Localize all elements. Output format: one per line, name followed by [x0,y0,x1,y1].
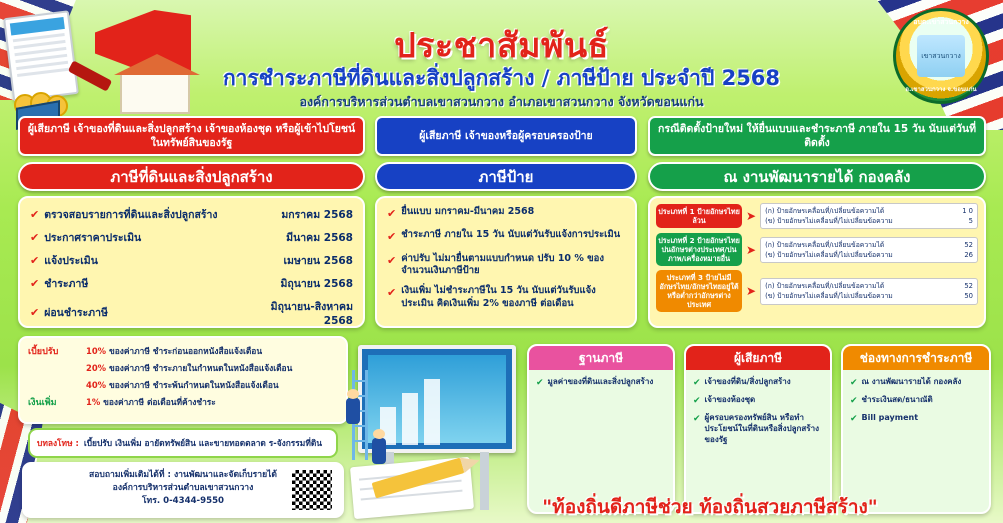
rate-value: 1 0 [962,206,973,216]
sign-rule-text: ยื่นแบบ มกราคม-มีนาคม 2568 [401,206,625,218]
poster-root: อบต.เขาสวนกวาง เขาสวนกวาง อ.เขาสวนกวาง จ… [0,0,1003,523]
penalty-desc: ของค่าภาษี ชำระภายในกำหนดในหนังสือแจ้งเต… [109,363,292,373]
schedule-row: ✔ ผ่อนชำระภาษี มิถุนายน-สิงหาคม 2568 [30,298,353,327]
check-icon: ✔ [693,377,701,389]
punishment-bar: บทลงโทษ : เบี้ยปรับ เงินเพิ่ม อายัดทรัพย… [28,428,338,458]
taxpayer-sign-banner: ผู้เสียภาษี เจ้าของหรือผู้ครอบครองป้าย [375,116,637,156]
card-body: ✔ เจ้าของที่ดิน/สิ่งปลูกสร้าง ✔ เจ้าของห… [686,370,830,459]
penalty-fine-text: 20% ของค่าภาษี ชำระภายในกำหนดในหนังสือแจ… [86,361,338,375]
schedule-date: เมษายน 2568 [243,252,353,269]
check-icon: ✔ [387,207,396,221]
card-item: ✔ ณ งานพัฒนารายได้ กองคลัง [850,377,982,389]
card-body: ✔ ณ งานพัฒนารายได้ กองคลัง ✔ ชำระเงินสด/… [843,370,989,438]
check-icon: ✔ [850,413,858,425]
sign-rule-text: ชำระภาษี ภายใน 15 วัน นับแต่วันรับแจ้งกา… [401,229,625,241]
schedule-label: ประกาศราคาประเมิน [44,229,243,246]
card-item-text: Bill payment [862,413,918,425]
card-item: ✔ ผู้ครอบครองทรัพย์สิน หรือทำประโยชน์ในท… [693,413,823,445]
schedule-label: แจ้งประเมิน [44,252,243,269]
schedule-date: มกราคม 2568 [243,206,353,223]
check-icon: ✔ [387,254,396,268]
card-item-text: ณ งานพัฒนารายได้ กองคลัง [862,377,962,389]
sign-rule-row: ✔ ค่าปรับ ไม่มายื่นตามแบบกำหนด ปรับ 10 %… [387,253,625,278]
sign-rule-text: เงินเพิ่ม ไม่ชำระภาษีใน 15 วัน นับแต่วัน… [401,285,625,310]
schedule-date: มิถุนายน 2568 [243,275,353,292]
penalty-fine-text: 40% ของค่าภาษี ชำระพ้นกำหนดในหนังสือแจ้ง… [86,378,338,392]
new-sign-notice-banner: กรณีติดตั้งป้ายใหม่ ให้ยื่นแบบและชำระภาษ… [648,116,986,156]
penalty-row: เงินเพิ่ม 1% ของค่าภาษี ต่อเดือนที่ค้างช… [28,395,338,409]
card-item-text: ผู้ครอบครองทรัพย์สิน หรือทำประโยชน์ในที่… [705,413,823,445]
sign-tax-rules-panel: ✔ ยื่นแบบ มกราคม-มีนาคม 2568 ✔ ชำระภาษี … [375,196,637,328]
billboard-chart-bar [424,379,440,445]
schedule-label: ชำระภาษี [44,275,243,292]
schedule-date: มิถุนายน-สิงหาคม 2568 [243,298,353,327]
land-tax-schedule-panel: ✔ ตรวจสอบรายการที่ดินและสิ่งปลูกสร้าง มก… [18,196,365,328]
card-title: ฐานภาษี [529,346,673,370]
penalty-desc: ของค่าภาษี ต่อเดือนที่ค้างชำระ [103,397,216,407]
sign-type-label: ประเภทที่ 3 ป้ายไม่มีอักษรไทย/อักษรไทยอย… [656,270,742,312]
section-title-sign-tax: ภาษีป้าย [375,162,637,191]
rate-value: 5 [969,216,973,226]
card-item-text: ชำระเงินสด/ธนาณัติ [862,395,933,407]
penalty-panel: เบี้ยปรับ 10% ของค่าภาษี ชำระก่อนออกหนัง… [18,336,348,424]
rate-value: 50 [964,291,973,301]
sign-type-label: ประเภทที่ 1 ป้ายอักษรไทยล้วน [656,204,742,228]
card-body: ✔ มูลค่าของที่ดินและสิ่งปลูกสร้าง [529,370,673,402]
penalty-fine-text: 10% ของค่าภาษี ชำระก่อนออกหนังสือแจ้งเตื… [86,344,338,358]
schedule-label: ผ่อนชำระภาษี [44,304,243,321]
card-item: ✔ Bill payment [850,413,982,425]
sign-rule-text: ค่าปรับ ไม่มายื่นตามแบบกำหนด ปรับ 10 % ข… [401,253,625,278]
schedule-label: ตรวจสอบรายการที่ดินและสิ่งปลูกสร้าง [44,206,243,223]
rate-desc: (ก) ป้ายอักษรเคลื่อนที่/เปลี่ยนข้อความได… [765,240,884,250]
card-tax-base: ฐานภาษี ✔ มูลค่าของที่ดินและสิ่งปลูกสร้า… [527,344,675,514]
rate-desc: (ก) ป้ายอักษรเคลื่อนที่/เปลี่ยนข้อความได… [765,281,884,291]
qr-code-icon [290,468,334,512]
contact-box: สอบถามเพิ่มเติมได้ที่ : งานพัฒนาและจัดเก… [22,462,344,518]
rate-desc: (ข) ป้ายอักษรไม่เคลื่อนที่/ไม่เปลี่ยนข้อ… [765,291,893,301]
arrow-right-icon: ➤ [746,209,756,223]
rate-desc: (ข) ป้ายอักษรไม่เคลื่อนที่/ไม่เปลี่ยนข้อ… [765,250,893,260]
schedule-row: ✔ แจ้งประเมิน เมษายน 2568 [30,252,353,269]
arrow-right-icon: ➤ [746,243,756,257]
penalty-desc: ของค่าภาษี ชำระพ้นกำหนดในหนังสือแจ้งเตือ… [109,380,279,390]
arrow-right-icon: ➤ [746,284,756,298]
check-icon: ✔ [536,377,544,389]
check-icon: ✔ [30,208,39,221]
card-title: ช่องทางการชำระภาษี [843,346,989,370]
check-icon: ✔ [387,230,396,244]
penalty-extra-label: เงินเพิ่ม [28,395,86,409]
organization-name: องค์การบริหารส่วนตำบลเขาสวนกวาง อำเภอเขา… [0,92,1003,112]
sign-rate-table-panel: ประเภทที่ 1 ป้ายอักษรไทยล้วน ➤ (ก) ป้ายอ… [648,196,986,328]
section-title-land-tax: ภาษีที่ดินและสิ่งปลูกสร้าง [18,162,365,191]
schedule-row: ✔ ประกาศราคาประเมิน มีนาคม 2568 [30,229,353,246]
sign-rate-group: ประเภทที่ 3 ป้ายไม่มีอักษรไทย/อักษรไทยอย… [656,270,978,312]
penalty-desc: ของค่าภาษี ชำระก่อนออกหนังสือแจ้งเตือน [109,346,262,356]
page-subtitle: การชำระภาษีที่ดินและสิ่งปลูกสร้าง / ภาษี… [0,62,1003,95]
card-taxpayer: ผู้เสียภาษี ✔ เจ้าของที่ดิน/สิ่งปลูกสร้า… [684,344,832,514]
rate-desc: (ก) ป้ายอักษรเคลื่อนที่/เปลี่ยนข้อความได… [765,206,884,216]
sign-rule-row: ✔ ยื่นแบบ มกราคม-มีนาคม 2568 [387,206,625,221]
check-icon: ✔ [30,306,39,319]
schedule-row: ✔ ชำระภาษี มิถุนายน 2568 [30,275,353,292]
punishment-label: บทลงโทษ : [37,436,79,450]
rate-value: 52 [964,281,973,291]
schedule-date: มีนาคม 2568 [243,229,353,246]
penalty-percent: 20% [86,363,106,373]
check-icon: ✔ [850,377,858,389]
billboard-chart-bar [402,393,418,445]
card-item: ✔ มูลค่าของที่ดินและสิ่งปลูกสร้าง [536,377,666,389]
penalty-row: 40% ของค่าภาษี ชำระพ้นกำหนดในหนังสือแจ้ง… [28,378,338,392]
card-payment-channels: ช่องทางการชำระภาษี ✔ ณ งานพัฒนารายได้ กอ… [841,344,991,514]
worker-illustration [346,398,360,424]
sign-rate-values: (ก) ป้ายอักษรเคลื่อนที่/เปลี่ยนข้อความได… [760,203,978,229]
penalty-extra-text: 1% ของค่าภาษี ต่อเดือนที่ค้างชำระ [86,395,338,409]
sign-type-label: ประเภทที่ 2 ป้ายอักษรไทยปนอักษรต่างประเท… [656,233,742,266]
card-item-text: มูลค่าของที่ดินและสิ่งปลูกสร้าง [548,377,654,389]
card-item-text: เจ้าของที่ดิน/สิ่งปลูกสร้าง [705,377,791,389]
sign-rule-row: ✔ ชำระภาษี ภายใน 15 วัน นับแต่วันรับแจ้ง… [387,229,625,244]
slogan-text: "ท้องถิ่นดีภาษีช่วย ท้องถิ่นสวยภาษีสร้าง… [430,492,990,522]
check-icon: ✔ [30,277,39,290]
penalty-percent: 40% [86,380,106,390]
check-icon: ✔ [693,413,701,445]
card-item: ✔ ชำระเงินสด/ธนาณัติ [850,395,982,407]
card-title: ผู้เสียภาษี [686,346,830,370]
sign-rate-values: (ก) ป้ายอักษรเคลื่อนที่/เปลี่ยนข้อความได… [760,237,978,263]
sign-rate-values: (ก) ป้ายอักษรเคลื่อนที่/เปลี่ยนข้อความได… [760,278,978,304]
check-icon: ✔ [30,254,39,267]
penalty-row: 20% ของค่าภาษี ชำระภายในกำหนดในหนังสือแจ… [28,361,338,375]
worker-illustration [372,438,386,464]
check-icon: ✔ [387,286,396,300]
taxpayer-land-banner: ผู้เสียภาษี เจ้าของที่ดินและสิ่งปลูกสร้า… [18,116,365,156]
punishment-text: เบี้ยปรับ เงินเพิ่ม อายัดทรัพย์สิน และขา… [84,436,322,450]
penalty-percent: 10% [86,346,106,356]
rate-desc: (ข) ป้ายอักษรไม่เคลื่อนที่/ไม่เปลี่ยนข้อ… [765,216,893,226]
rate-value: 52 [964,240,973,250]
check-icon: ✔ [850,395,858,407]
sign-rate-group: ประเภทที่ 2 ป้ายอักษรไทยปนอักษรต่างประเท… [656,233,978,266]
check-icon: ✔ [30,231,39,244]
penalty-row: เบี้ยปรับ 10% ของค่าภาษี ชำระก่อนออกหนัง… [28,344,338,358]
sign-rate-group: ประเภทที่ 1 ป้ายอักษรไทยล้วน ➤ (ก) ป้ายอ… [656,203,978,229]
penalty-percent: 1% [86,397,100,407]
rate-value: 26 [964,250,973,260]
schedule-row: ✔ ตรวจสอบรายการที่ดินและสิ่งปลูกสร้าง มก… [30,206,353,223]
penalty-fine-label: เบี้ยปรับ [28,344,86,358]
card-item: ✔ เจ้าของห้องชุด [693,395,823,407]
check-icon: ✔ [693,395,701,407]
card-item: ✔ เจ้าของที่ดิน/สิ่งปลูกสร้าง [693,377,823,389]
section-title-payment-office: ณ งานพัฒนารายได้ กองคลัง [648,162,986,191]
card-item-text: เจ้าของห้องชุด [705,395,756,407]
sign-rule-row: ✔ เงินเพิ่ม ไม่ชำระภาษีใน 15 วัน นับแต่ว… [387,285,625,310]
